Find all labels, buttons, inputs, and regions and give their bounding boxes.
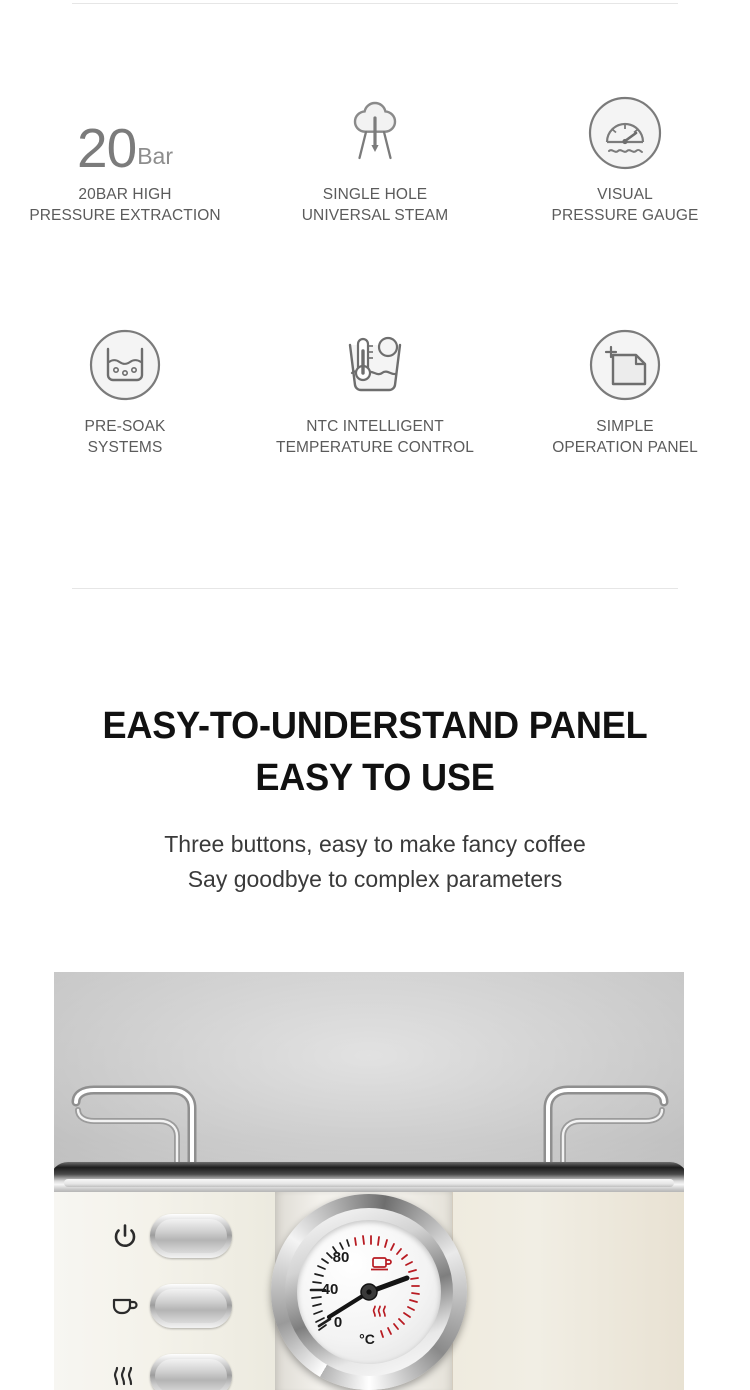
svg-text:40: 40	[322, 1281, 339, 1298]
feature-grid: 20 Bar 20BAR HIGH PRESSURE EXTRACTION SI…	[0, 96, 750, 473]
coffee-button-row	[106, 1280, 256, 1332]
divider-top	[72, 3, 678, 4]
subhead-line-2: Say goodbye to complex parameters	[0, 862, 750, 897]
steam-cloud-icon	[337, 96, 413, 175]
headline-line-2: EASY TO USE	[19, 752, 732, 804]
feature-label: VISUAL PRESSURE GAUGE	[552, 184, 699, 226]
divider-bottom	[72, 588, 678, 589]
svg-text:80: 80	[333, 1249, 350, 1266]
power-button-row	[106, 1210, 256, 1262]
feature-icon-wrap	[587, 96, 663, 174]
steam-button[interactable]	[150, 1354, 232, 1390]
control-button-column	[106, 1210, 256, 1390]
feature-icon-wrap	[337, 96, 413, 174]
pre-soak-basin-icon	[88, 328, 162, 407]
steam-button-row	[106, 1350, 256, 1390]
headline-line-1: EASY-TO-UNDERSTAND PANEL	[19, 700, 732, 752]
coffee-button[interactable]	[150, 1284, 232, 1328]
feature-single-hole-universal-steam: SINGLE HOLE UNIVERSAL STEAM	[250, 96, 500, 241]
machine-body: 80 40 0 °C	[54, 1162, 684, 1390]
operation-panel-icon	[588, 328, 662, 407]
machine-front-panel: 80 40 0 °C	[54, 1192, 684, 1390]
feature-icon-wrap	[588, 328, 662, 406]
feature-icon-wrap	[336, 328, 414, 406]
steam-icon	[106, 1364, 144, 1388]
feature-label: 20BAR HIGH PRESSURE EXTRACTION	[29, 184, 220, 226]
pressure-gauge-icon	[587, 95, 663, 176]
bar-unit: Bar	[137, 141, 173, 171]
power-icon	[106, 1223, 144, 1249]
gauge-face: 80 40 0 °C	[297, 1220, 441, 1364]
feature-icon-wrap: 20 Bar	[77, 96, 173, 174]
cup-icon	[106, 1294, 144, 1318]
20bar-pressure-icon: 20 Bar	[77, 96, 173, 174]
page-title: EASY-TO-UNDERSTAND PANEL EASY TO USE	[19, 700, 732, 804]
thermometer-basin-icon	[336, 329, 414, 406]
svg-text:0: 0	[334, 1314, 342, 1331]
feature-label: SIMPLE OPERATION PANEL	[552, 416, 698, 458]
feature-20bar-high-pressure-extraction: 20 Bar 20BAR HIGH PRESSURE EXTRACTION	[0, 96, 250, 241]
feature-icon-wrap	[88, 328, 162, 406]
feature-pre-soak-systems: PRE-SOAK SYSTEMS	[0, 328, 250, 473]
subhead-line-1: Three buttons, easy to make fancy coffee	[0, 827, 750, 862]
feature-ntc-intelligent-temperature-control: NTC INTELLIGENT TEMPERATURE CONTROL	[250, 328, 500, 473]
power-button[interactable]	[150, 1214, 232, 1258]
page-subtitle: Three buttons, easy to make fancy coffee…	[0, 827, 750, 897]
feature-label: NTC INTELLIGENT TEMPERATURE CONTROL	[276, 416, 474, 458]
espresso-machine-front-panel-photo: 80 40 0 °C	[54, 972, 684, 1390]
panel-right-section	[452, 1192, 684, 1390]
feature-label: SINGLE HOLE UNIVERSAL STEAM	[302, 184, 449, 226]
svg-text:°C: °C	[359, 1331, 375, 1347]
feature-visual-pressure-gauge: VISUAL PRESSURE GAUGE	[500, 96, 750, 241]
feature-label: PRE-SOAK SYSTEMS	[85, 416, 166, 458]
bar-number: 20	[77, 122, 136, 174]
chrome-top-trim	[54, 1162, 684, 1196]
feature-simple-operation-panel: SIMPLE OPERATION PANEL	[500, 328, 750, 473]
temperature-pressure-gauge: 80 40 0 °C	[271, 1194, 467, 1390]
